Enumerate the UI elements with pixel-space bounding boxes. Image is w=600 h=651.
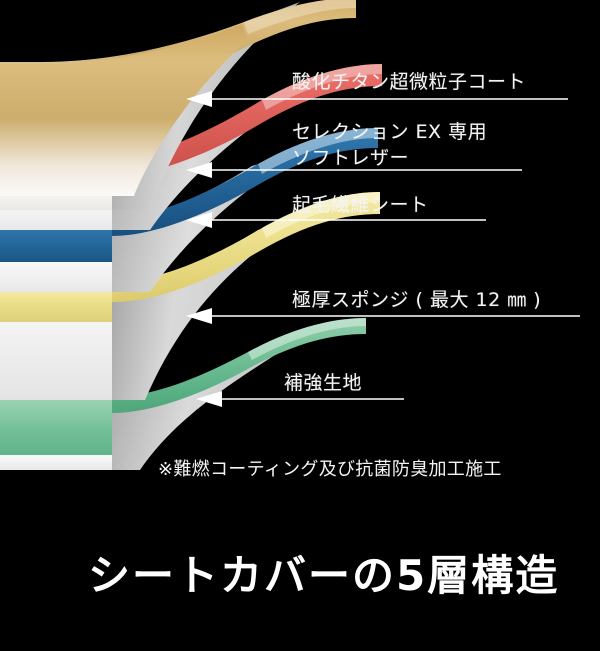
callout-label-titanium-coat: 酸化チタン超微粒子コート [292,70,526,95]
figure-title: シートカバーの5層構造 [88,542,559,603]
figure-canvas: 酸化チタン超微粒子コート セレクション EX 専用 ソフトレザー 起毛繊維シート… [0,0,600,651]
callout-label-fiber-sheet: 起毛繊維シート [292,193,429,218]
callout-label-soft-leather-line2: ソフトレザー [292,146,409,171]
figure-footnote: ※難燃コーティング及び抗菌防臭加工施工 [158,455,502,481]
callout-label-thick-sponge: 極厚スポンジ ( 最大 12 ㎜ ) [292,288,541,313]
callout-label-soft-leather-line1: セレクション EX 専用 [292,120,487,145]
callout-label-reinforcement-fabric: 補強生地 [284,371,362,396]
